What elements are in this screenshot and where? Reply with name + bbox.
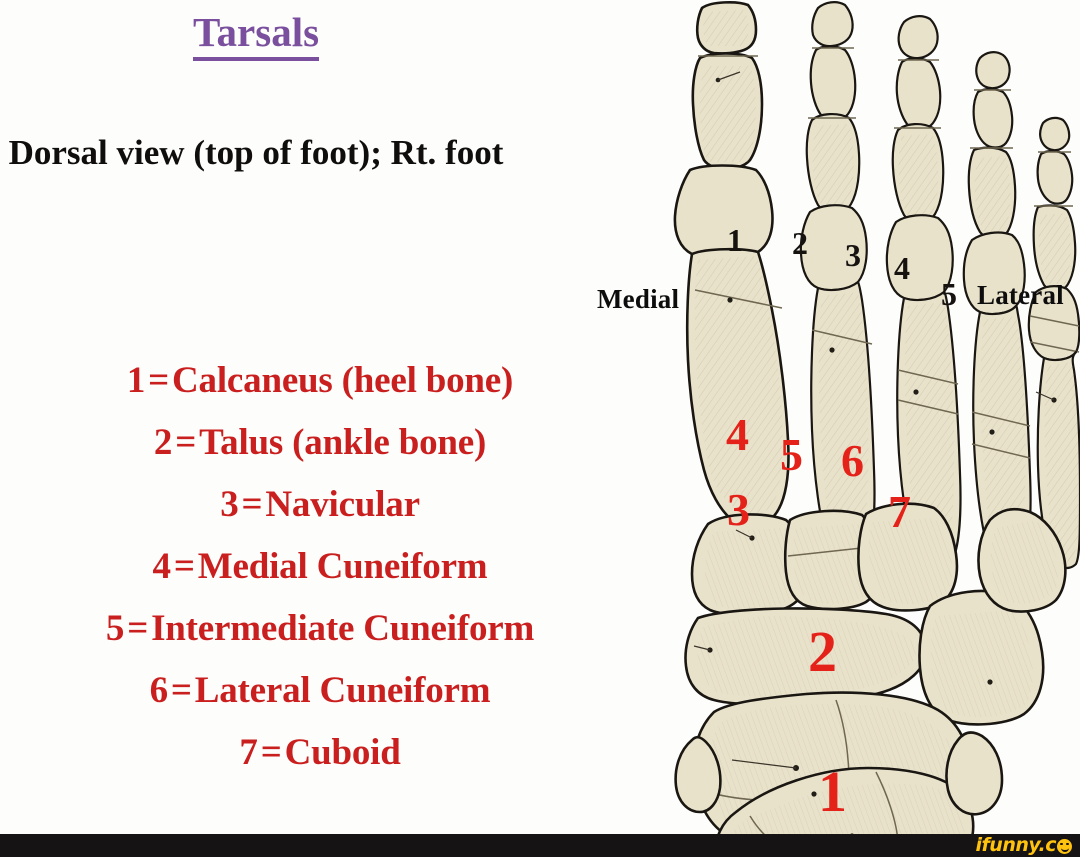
legend-label: Medial Cuneiform bbox=[198, 546, 488, 587]
legend-label: Cuboid bbox=[285, 732, 401, 773]
legend-label: Talus (ankle bone) bbox=[199, 422, 486, 463]
legend-item: 3=Navicular bbox=[0, 476, 640, 538]
foot-bones-svg: .bone { fill:#e9e2cb; stroke:#1a1713; st… bbox=[640, 0, 1080, 845]
smiley-face-icon bbox=[1057, 839, 1072, 854]
legend-equals: = bbox=[239, 484, 266, 525]
legend-equals: = bbox=[168, 670, 195, 711]
page-title-text: Tarsals bbox=[193, 9, 319, 61]
legend-number: 4 bbox=[153, 546, 171, 587]
legend-equals: = bbox=[172, 422, 199, 463]
legend-equals: = bbox=[124, 608, 151, 649]
tarsal-number-4-medial-cuneiform: 4 bbox=[726, 412, 749, 458]
page-root: Tarsals Dorsal view (top of foot); Rt. f… bbox=[0, 0, 1080, 857]
ifunny-watermark-text: ifunny.c bbox=[976, 834, 1056, 856]
metatarsal-number-2: 2 bbox=[792, 225, 808, 262]
tarsal-number-2-talus: 2 bbox=[808, 623, 837, 681]
page-title: Tarsals bbox=[0, 8, 512, 56]
legend-item: 5=Intermediate Cuneiform bbox=[0, 600, 640, 662]
medial-direction-label: Medial bbox=[597, 284, 679, 315]
tarsal-number-1-calcaneus: 1 bbox=[818, 763, 847, 821]
legend-item: 6=Lateral Cuneiform bbox=[0, 662, 640, 724]
legend-label: Navicular bbox=[265, 484, 419, 525]
metatarsal-number-3: 3 bbox=[845, 237, 861, 274]
metatarsal-number-5: 5 bbox=[941, 276, 957, 313]
tarsal-number-6-lateral-cuneiform: 6 bbox=[841, 438, 864, 484]
legend-number: 1 bbox=[127, 360, 145, 401]
metatarsal-number-4: 4 bbox=[894, 250, 910, 287]
legend-label: Lateral Cuneiform bbox=[195, 670, 491, 711]
tarsal-number-3-navicular: 3 bbox=[727, 487, 750, 533]
tarsal-number-5-intermediate-cuneiform: 5 bbox=[780, 432, 803, 478]
legend-label: Intermediate Cuneiform bbox=[151, 608, 534, 649]
legend-equals: = bbox=[171, 546, 198, 587]
foot-skeleton-illustration: .bone { fill:#e9e2cb; stroke:#1a1713; st… bbox=[640, 0, 1080, 845]
legend-item: 4=Medial Cuneiform bbox=[0, 538, 640, 600]
legend-number: 5 bbox=[106, 608, 124, 649]
legend-number: 7 bbox=[239, 732, 257, 773]
legend-equals: = bbox=[145, 360, 172, 401]
tarsal-number-7-cuboid: 7 bbox=[888, 489, 911, 535]
legend-number: 6 bbox=[150, 670, 168, 711]
legend-equals: = bbox=[258, 732, 285, 773]
watermark-bar: ifunny.c bbox=[0, 834, 1080, 857]
metatarsal-number-1: 1 bbox=[727, 222, 743, 259]
legend-label: Calcaneus (heel bone) bbox=[172, 360, 513, 401]
lateral-direction-label: Lateral bbox=[977, 280, 1064, 311]
ifunny-watermark: ifunny.c bbox=[976, 834, 1072, 856]
legend-number: 3 bbox=[220, 484, 238, 525]
legend-item: 7=Cuboid bbox=[0, 724, 640, 786]
page-subtitle: Dorsal view (top of foot); Rt. foot bbox=[6, 130, 506, 176]
legend-number: 2 bbox=[154, 422, 172, 463]
legend-item: 2=Talus (ankle bone) bbox=[0, 414, 640, 476]
legend-item: 1=Calcaneus (heel bone) bbox=[0, 352, 640, 414]
tarsal-legend-list: 1=Calcaneus (heel bone) 2=Talus (ankle b… bbox=[0, 352, 640, 786]
